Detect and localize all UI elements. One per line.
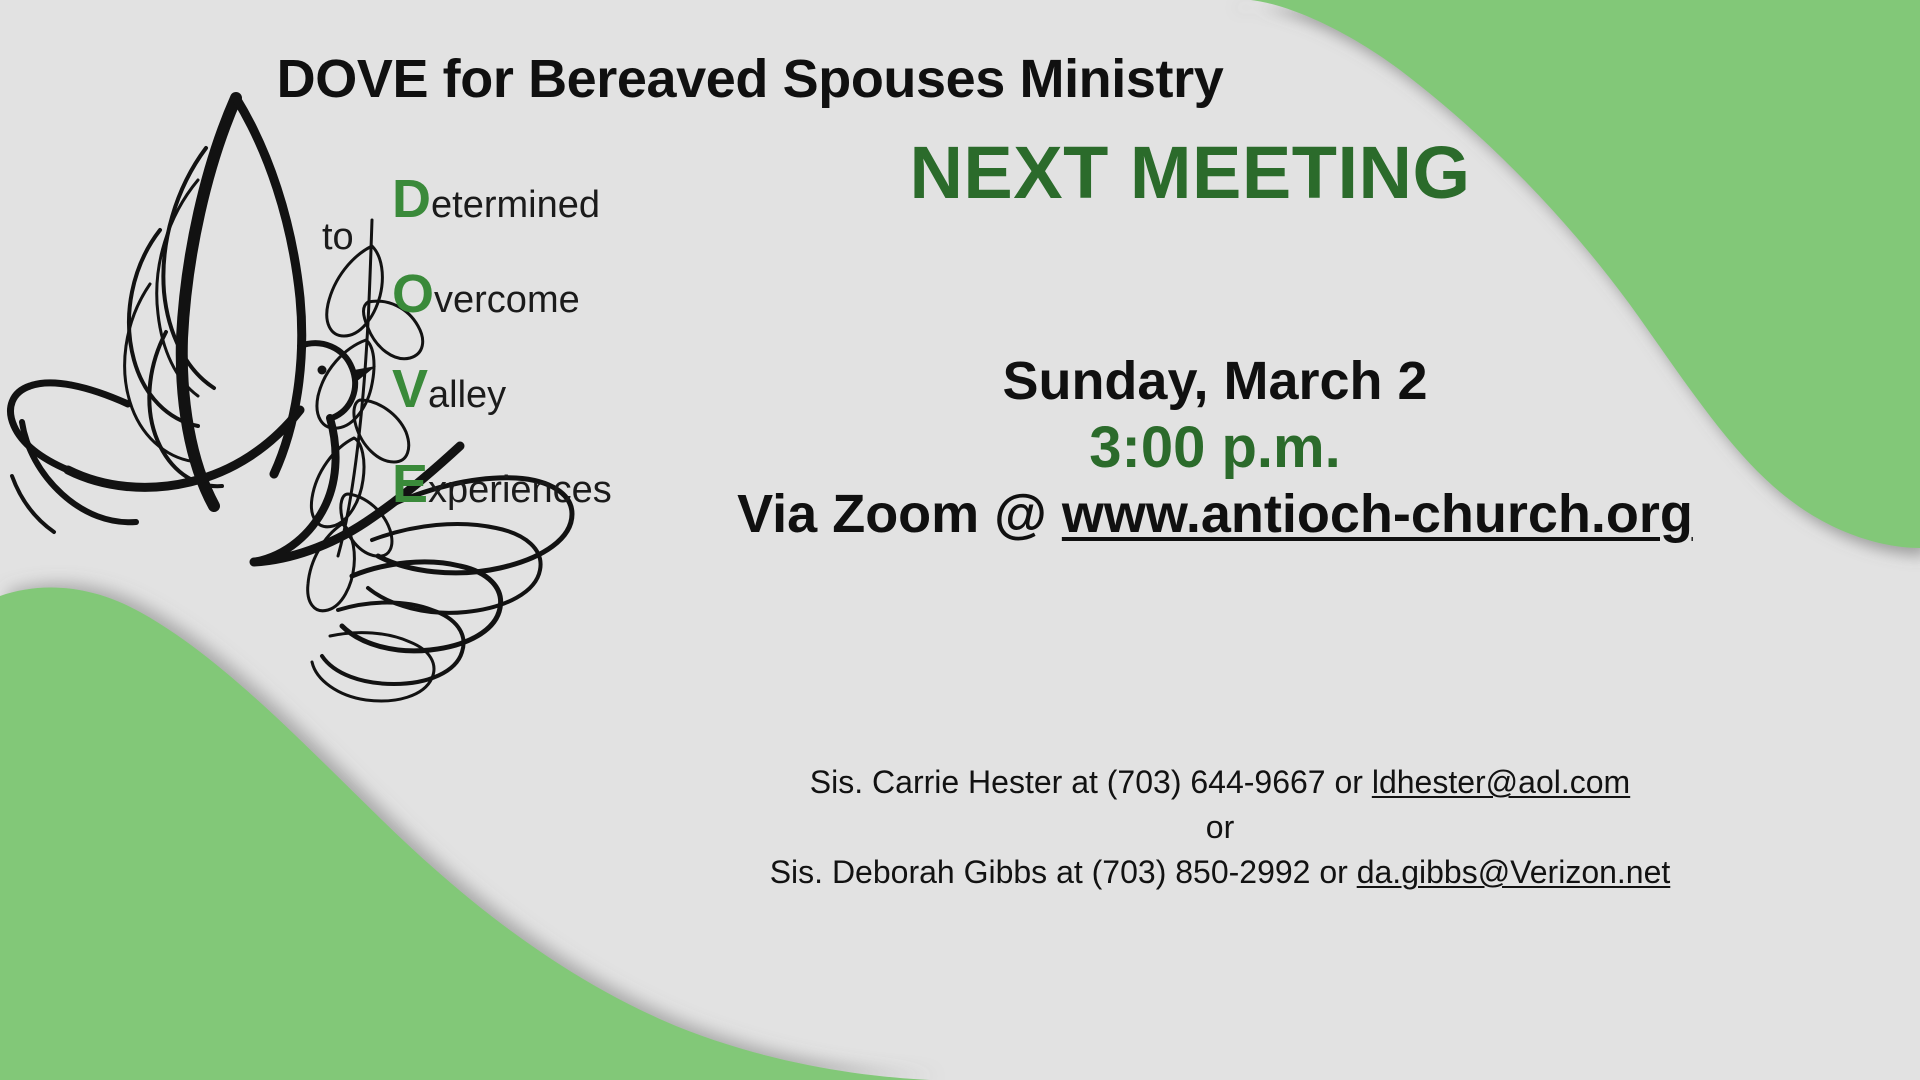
contact-info: Sis. Carrie Hester at (703) 644-9667 or … xyxy=(560,760,1880,894)
meeting-time: 3:00 p.m. xyxy=(580,414,1850,482)
meeting-details: Sunday, March 2 3:00 p.m. Via Zoom @ www… xyxy=(580,350,1850,548)
acronym-to-word: to xyxy=(322,216,354,259)
contact-1-email-link[interactable]: ldhester@aol.com xyxy=(1372,764,1630,800)
acronym-row-d: Determined xyxy=(392,168,712,263)
acronym-letter-o: O xyxy=(392,264,434,324)
acronym-word-valley: alley xyxy=(428,374,506,416)
church-website-link[interactable]: www.antioch-church.org xyxy=(1062,484,1693,544)
acronym-word-overcome: vercome xyxy=(434,279,580,321)
contact-2-name-phone: Sis. Deborah Gibbs at (703) 850-2992 or xyxy=(770,854,1357,890)
page-title: DOVE for Bereaved Spouses Ministry xyxy=(0,48,1500,110)
acronym-letter-d: D xyxy=(392,169,431,229)
acronym-row-o: toOvercome xyxy=(392,263,712,358)
contact-line-2: Sis. Deborah Gibbs at (703) 850-2992 or … xyxy=(560,850,1880,895)
meeting-date: Sunday, March 2 xyxy=(580,350,1850,414)
contact-line-1: Sis. Carrie Hester at (703) 644-9667 or … xyxy=(560,760,1880,805)
contact-1-name-phone: Sis. Carrie Hester at (703) 644-9667 or xyxy=(810,764,1372,800)
slide-canvas: DOVE for Bereaved Spouses Ministry NEXT … xyxy=(0,0,1920,1080)
acronym-word-determined: etermined xyxy=(431,184,600,226)
next-meeting-heading: NEXT MEETING xyxy=(740,130,1640,215)
contact-2-email-link[interactable]: da.gibbs@Verizon.net xyxy=(1357,854,1671,890)
acronym-letter-v: V xyxy=(392,359,428,419)
meeting-location-line: Via Zoom @ www.antioch-church.org xyxy=(580,482,1850,548)
acronym-letter-e: E xyxy=(392,454,428,514)
contact-separator: or xyxy=(560,805,1880,850)
meeting-via-prefix: Via Zoom @ xyxy=(737,484,1062,544)
